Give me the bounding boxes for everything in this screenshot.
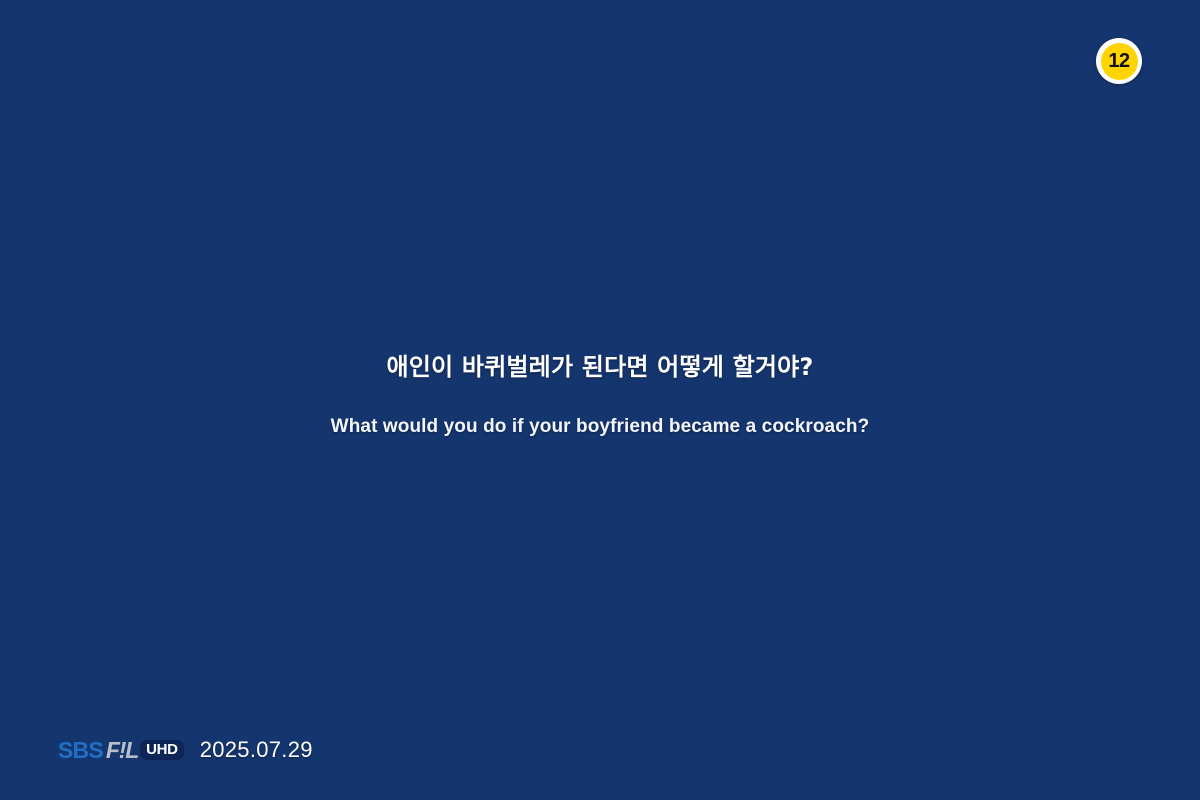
age-rating-disc: 12 bbox=[1101, 43, 1138, 80]
fil-wordmark: F!L bbox=[103, 739, 138, 762]
age-rating-number: 12 bbox=[1108, 51, 1129, 71]
channel-logo-group: SBS F!L UHD bbox=[58, 738, 184, 762]
uhd-badge-label: UHD bbox=[146, 742, 178, 757]
caption-primary-korean: 애인이 바퀴벌레가 된다면 어떻게 할거야? bbox=[0, 352, 1200, 382]
caption-secondary-english: What would you do if your boyfriend beca… bbox=[0, 382, 1200, 440]
age-rating-badge: 12 bbox=[1096, 38, 1142, 84]
caption-block: 애인이 바퀴벌레가 된다면 어떻게 할거야? What would you do… bbox=[0, 352, 1200, 440]
uhd-badge: UHD bbox=[140, 740, 184, 760]
broadcast-date: 2025.07.29 bbox=[200, 739, 313, 761]
sbs-wordmark: SBS bbox=[58, 739, 103, 762]
channel-bug: SBS F!L UHD 2025.07.29 bbox=[58, 735, 313, 765]
broadcast-slide: 12 애인이 바퀴벌레가 된다면 어떻게 할거야? What would you… bbox=[0, 0, 1200, 800]
